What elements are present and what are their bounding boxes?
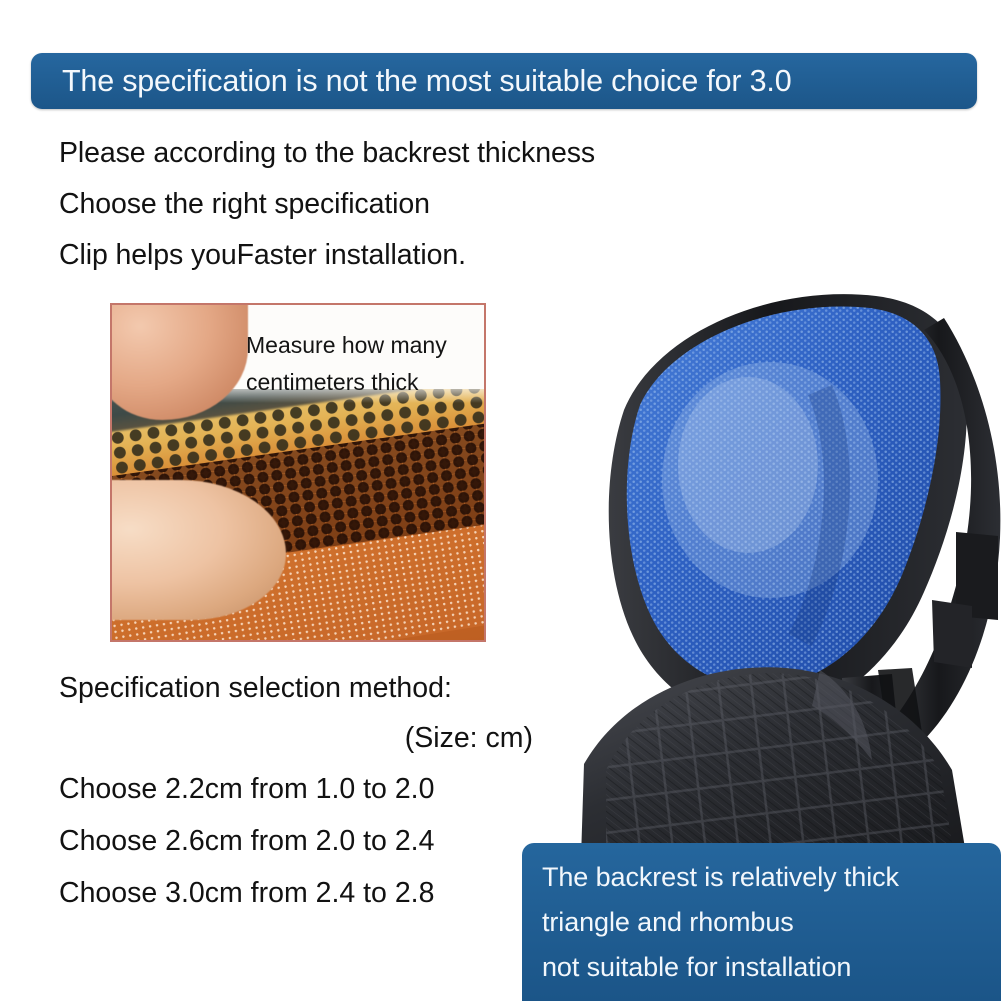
chair-product-photo [520,270,1001,890]
headrest-bracket-shadow [932,600,972,668]
spec-rule-3: Choose 3.0cm from 2.4 to 2.8 [59,867,539,919]
callout-line-2: triangle and rhombus [542,900,1001,945]
measurement-photo: Measure how many centimeters thick [110,303,486,642]
photo-caption: Measure how many centimeters thick [246,327,482,401]
intro-line-2: Choose the right specification [59,179,759,230]
warning-callout: The backrest is relatively thick triangl… [522,843,1001,1001]
spec-rule-2: Choose 2.6cm from 2.0 to 2.4 [59,815,539,867]
spec-unit-note: (Size: cm) [59,713,539,763]
spec-block: Specification selection method: (Size: c… [59,663,539,919]
intro-text-block: Please according to the backrest thickne… [59,128,759,281]
infographic-canvas: The specification is not the most suitab… [0,0,1001,1001]
photo-caption-line-2: centimeters thick [246,364,482,401]
title-banner: The specification is not the most suitab… [31,53,977,109]
photo-caption-line-1: Measure how many [246,327,482,364]
callout-line-1: The backrest is relatively thick [542,855,1001,900]
title-banner-text: The specification is not the most suitab… [31,64,791,99]
spec-rule-1: Choose 2.2cm from 1.0 to 2.0 [59,763,539,815]
intro-line-1: Please according to the backrest thickne… [59,128,759,179]
callout-line-3: not suitable for installation [542,945,1001,990]
spec-heading: Specification selection method: [59,663,539,713]
